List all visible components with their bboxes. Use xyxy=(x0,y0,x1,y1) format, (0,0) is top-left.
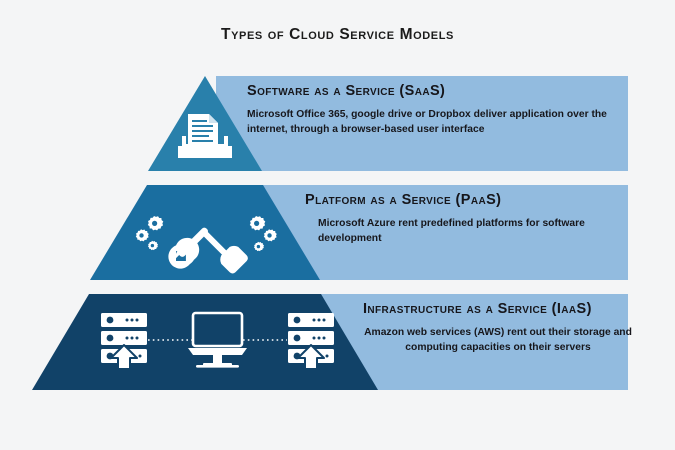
server-rack-right xyxy=(288,313,334,369)
paas-description: Microsoft Azure rent predefined platform… xyxy=(318,217,625,246)
iaas-heading: Infrastructure as a Service (IaaS) xyxy=(363,301,633,317)
saas-heading: Software as a Service (SaaS) xyxy=(247,83,622,99)
saas-description: Microsoft Office 365, google drive or Dr… xyxy=(247,108,622,137)
iaas-text-block: Infrastructure as a Service (IaaS) Amazo… xyxy=(363,301,633,355)
paas-text-block: Platform as a Service (PaaS) Microsoft A… xyxy=(305,192,625,246)
paas-heading: Platform as a Service (PaaS) xyxy=(305,192,625,208)
iaas-description: Amazon web services (AWS) rent out their… xyxy=(363,326,633,355)
server-rack-left xyxy=(101,313,147,369)
saas-text-block: Software as a Service (SaaS) Microsoft O… xyxy=(247,83,622,137)
